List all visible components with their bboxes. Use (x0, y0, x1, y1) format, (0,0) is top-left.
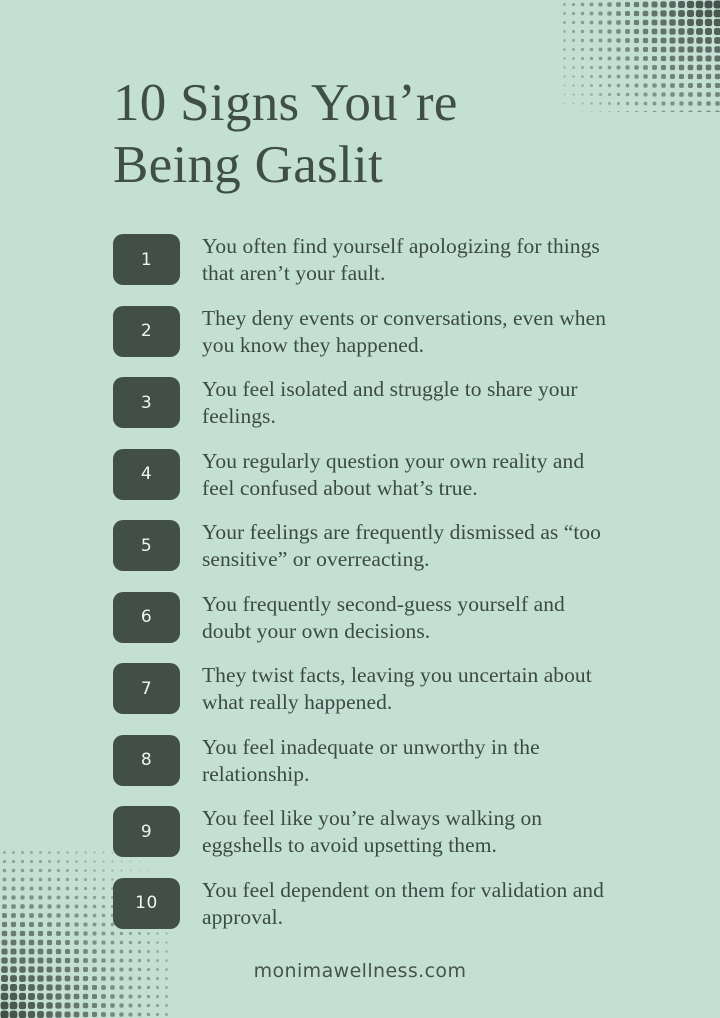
sign-text: You frequently second-guess yourself and… (202, 589, 613, 645)
sign-number-badge: 8 (113, 735, 180, 786)
list-item: 6 You frequently second-guess yourself a… (113, 589, 613, 661)
list-item: 3 You feel isolated and struggle to shar… (113, 374, 613, 446)
list-item: 4 You regularly question your own realit… (113, 446, 613, 518)
list-item: 10 You feel dependent on them for valida… (113, 875, 613, 947)
sign-number-badge: 3 (113, 377, 180, 428)
sign-text: You feel isolated and struggle to share … (202, 374, 613, 430)
list-item: 1 You often find yourself apologizing fo… (113, 231, 613, 303)
list-item: 5 Your feelings are frequently dismissed… (113, 517, 613, 589)
sign-text: You feel like you’re always walking on e… (202, 803, 613, 859)
sign-number-badge: 7 (113, 663, 180, 714)
signs-list: 1 You often find yourself apologizing fo… (113, 231, 613, 946)
sign-number-badge: 9 (113, 806, 180, 857)
list-item: 7 They twist facts, leaving you uncertai… (113, 660, 613, 732)
sign-number-badge: 1 (113, 234, 180, 285)
sign-text: Your feelings are frequently dismissed a… (202, 517, 613, 573)
sign-text: You feel dependent on them for validatio… (202, 875, 613, 931)
sign-text: They deny events or conversations, even … (202, 303, 613, 359)
sign-number-badge: 4 (113, 449, 180, 500)
sign-text: You regularly question your own reality … (202, 446, 613, 502)
list-item: 8 You feel inadequate or unworthy in the… (113, 732, 613, 804)
sign-text: They twist facts, leaving you uncertain … (202, 660, 613, 716)
sign-number-badge: 6 (113, 592, 180, 643)
sign-number-badge: 5 (113, 520, 180, 571)
sign-number-badge: 10 (113, 878, 180, 929)
poster-canvas: 10 Signs You’re Being Gaslit 1 You often… (0, 0, 720, 1018)
page-title: 10 Signs You’re Being Gaslit (113, 72, 633, 196)
footer-website-url: monimawellness.com (0, 960, 720, 982)
list-item: 9 You feel like you’re always walking on… (113, 803, 613, 875)
sign-number-badge: 2 (113, 306, 180, 357)
sign-text: You feel inadequate or unworthy in the r… (202, 732, 613, 788)
sign-text: You often find yourself apologizing for … (202, 231, 613, 287)
list-item: 2 They deny events or conversations, eve… (113, 303, 613, 375)
